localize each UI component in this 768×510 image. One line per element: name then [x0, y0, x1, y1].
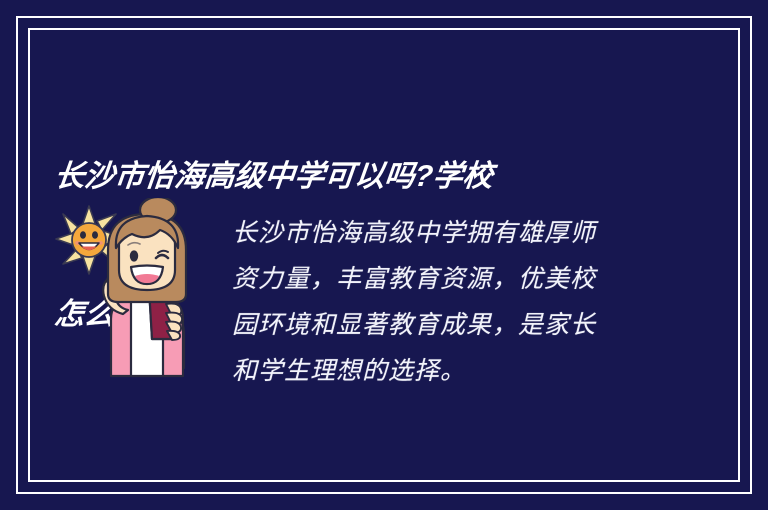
body-line-3: 园环境和显著教育成果，是家长 — [232, 302, 682, 348]
body-line-2: 资力量，丰富教育资源，优美校 — [232, 256, 682, 302]
page-title-line-1: 长沙市怡海高级中学可以吗?学校 — [52, 154, 657, 200]
illustration-girl-with-juice — [48, 198, 218, 380]
body-line-1: 长沙市怡海高级中学拥有雄厚师 — [232, 210, 682, 256]
body-paragraph: 长沙市怡海高级中学拥有雄厚师 资力量，丰富教育资源，优美校 园环境和显著教育成果… — [232, 210, 682, 394]
body-line-4: 和学生理想的选择。 — [232, 348, 682, 394]
poster-canvas: 长沙市怡海高级中学可以吗?学校 怎么样? — [0, 0, 768, 510]
winking-girl-icon — [103, 198, 186, 376]
